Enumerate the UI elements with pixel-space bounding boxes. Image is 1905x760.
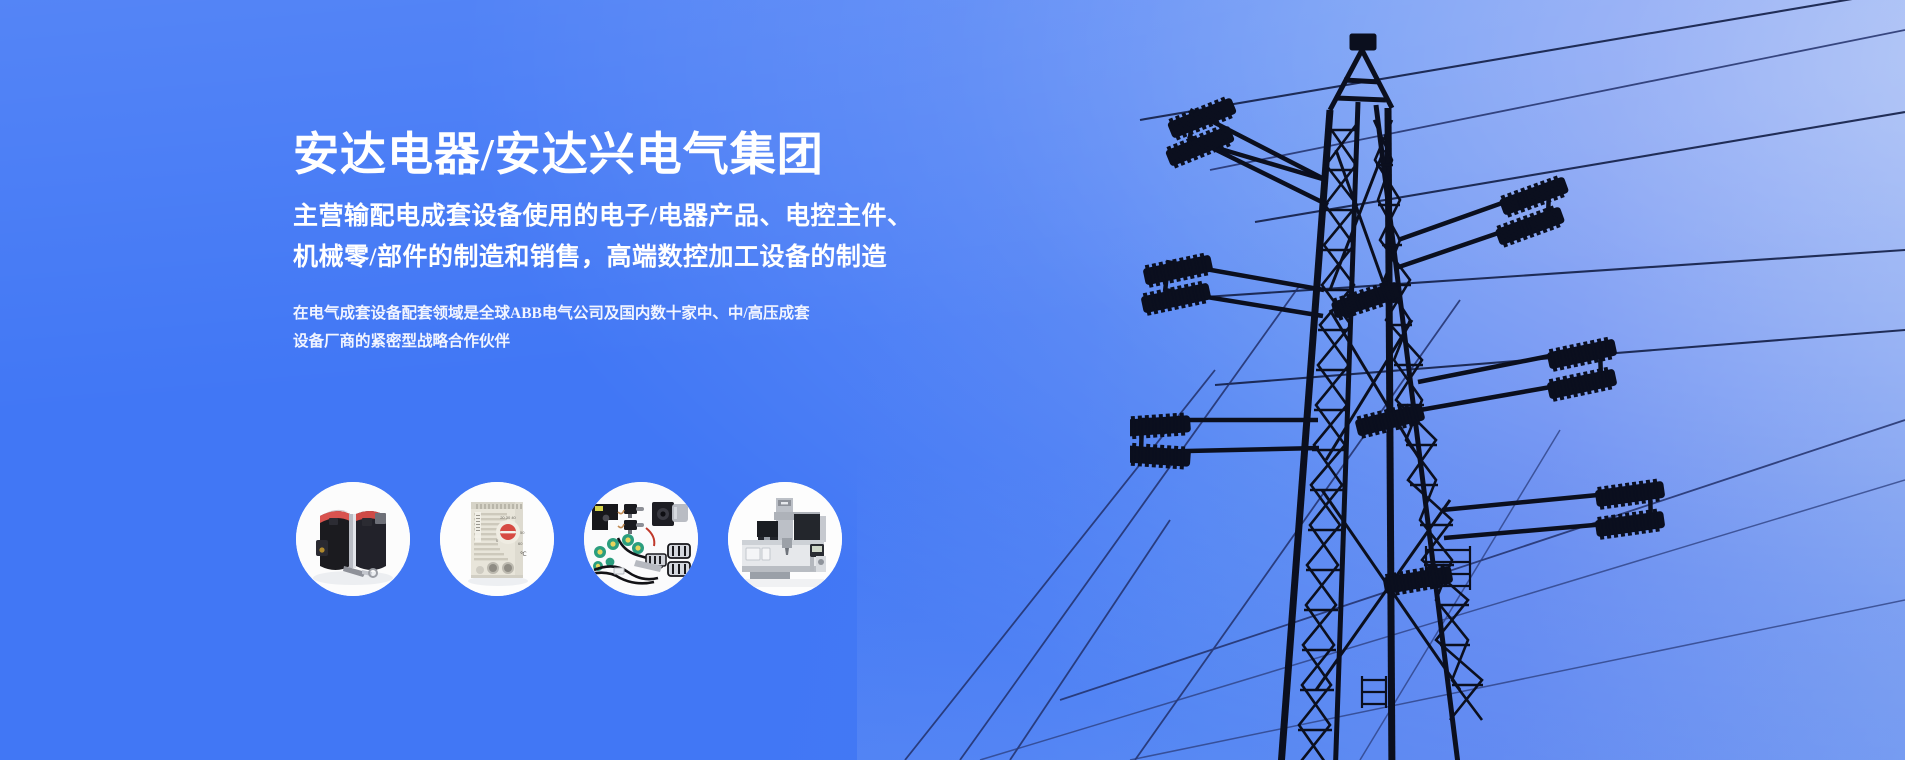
hero-banner: 安达电器/安达兴电气集团 主营输配电成套设备使用的电子/电器产品、电控主件、 机… [0, 0, 1905, 760]
subheadline: 主营输配电成套设备使用的电子/电器产品、电控主件、 机械零/部件的制造和销售，高… [293, 197, 913, 278]
svg-text:50: 50 [520, 530, 525, 535]
description-line-2: 设备厂商的紧密型战略合作伙伴 [293, 328, 833, 356]
coil-heater-icon [296, 482, 410, 596]
subheadline-line-2: 机械零/部件的制造和销售，高端数控加工设备的制造 [293, 238, 913, 279]
electronic-components-icon [584, 482, 698, 596]
sky-background [0, 0, 1905, 760]
product-thumb-cnc-machine[interactable] [728, 482, 842, 596]
svg-text:℃: ℃ [520, 552, 527, 558]
thermostat-icon: 20 30 40 50 0 60 ℃ [440, 482, 554, 596]
hero-copy: 安达电器/安达兴电气集团 主营输配电成套设备使用的电子/电器产品、电控主件、 机… [293, 128, 913, 356]
product-thumb-coil-heater[interactable] [296, 482, 410, 596]
svg-text:20 30 40: 20 30 40 [500, 515, 516, 520]
cnc-machine-icon [728, 482, 842, 596]
product-thumb-thermostat[interactable]: 20 30 40 50 0 60 ℃ [440, 482, 554, 596]
page-title: 安达电器/安达兴电气集团 [293, 128, 913, 181]
product-thumbnail-row: 20 30 40 50 0 60 ℃ [296, 482, 842, 596]
subheadline-line-1: 主营输配电成套设备使用的电子/电器产品、电控主件、 [293, 197, 913, 238]
description-line-1: 在电气成套设备配套领域是全球ABB电气公司及国内数十家中、中/高压成套 [293, 300, 833, 328]
description: 在电气成套设备配套领域是全球ABB电气公司及国内数十家中、中/高压成套 设备厂商… [293, 300, 833, 355]
product-thumb-electronic-components[interactable] [584, 482, 698, 596]
svg-text:60: 60 [518, 541, 523, 546]
